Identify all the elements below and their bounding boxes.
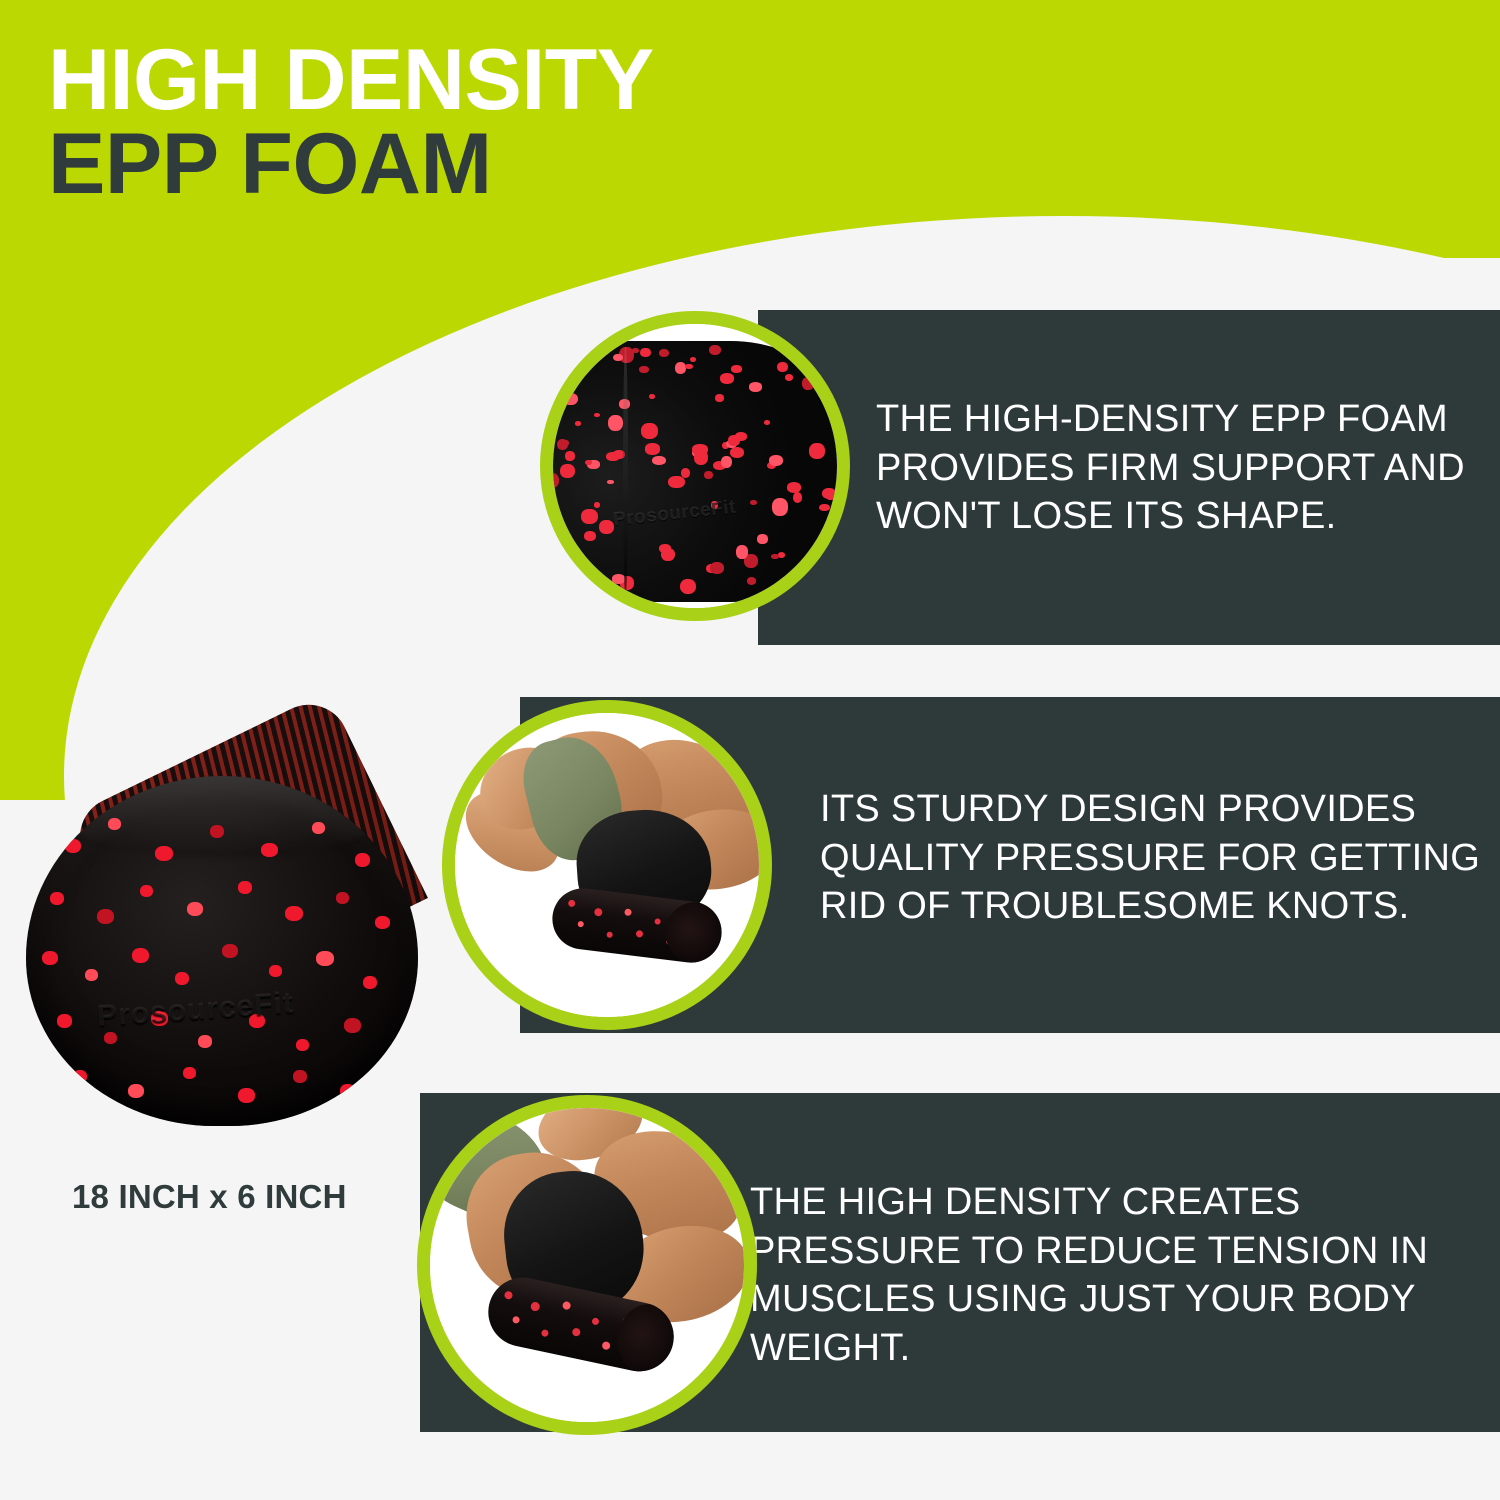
page-title: HIGH DENSITY EPP FOAM: [48, 38, 654, 207]
product-dimensions-label: 18 INCH x 6 INCH: [72, 1178, 347, 1216]
feature-2-text: ITS STURDY DESIGN PROVIDES QUALITY PRESS…: [820, 785, 1488, 931]
roller-end-face: ProsourceFit: [26, 776, 418, 1126]
rolling-lower-back-photo: [430, 1108, 744, 1422]
feature-2-image: [442, 700, 772, 1030]
rolling-upper-back-photo: [455, 713, 759, 1017]
feature-3-image: [417, 1095, 757, 1435]
feature-1-text: THE HIGH-DENSITY EPP FOAM PROVIDES FIRM …: [876, 395, 1496, 541]
headline-line-2: EPP FOAM: [48, 122, 654, 206]
feature-panel-1: THE HIGH-DENSITY EPP FOAM PROVIDES FIRM …: [758, 310, 1500, 645]
roller-end-cap: [663, 899, 726, 966]
feature-3-text: THE HIGH DENSITY CREATES PRESSURE TO RED…: [750, 1178, 1490, 1373]
roller-body: [540, 341, 850, 602]
main-product-image: ProsourceFit: [18, 668, 428, 1128]
roller-rim-highlight: [53, 776, 390, 857]
infographic-page: HIGH DENSITY EPP FOAM THE HIGH-DENSITY E…: [0, 0, 1500, 1500]
headline-line-1: HIGH DENSITY: [48, 38, 654, 122]
foam-roller-closeup-photo: ProsourceFit: [553, 324, 837, 608]
feature-1-image: ProsourceFit: [540, 311, 850, 621]
product-logo-emboss: ProsourceFit: [96, 986, 295, 1034]
